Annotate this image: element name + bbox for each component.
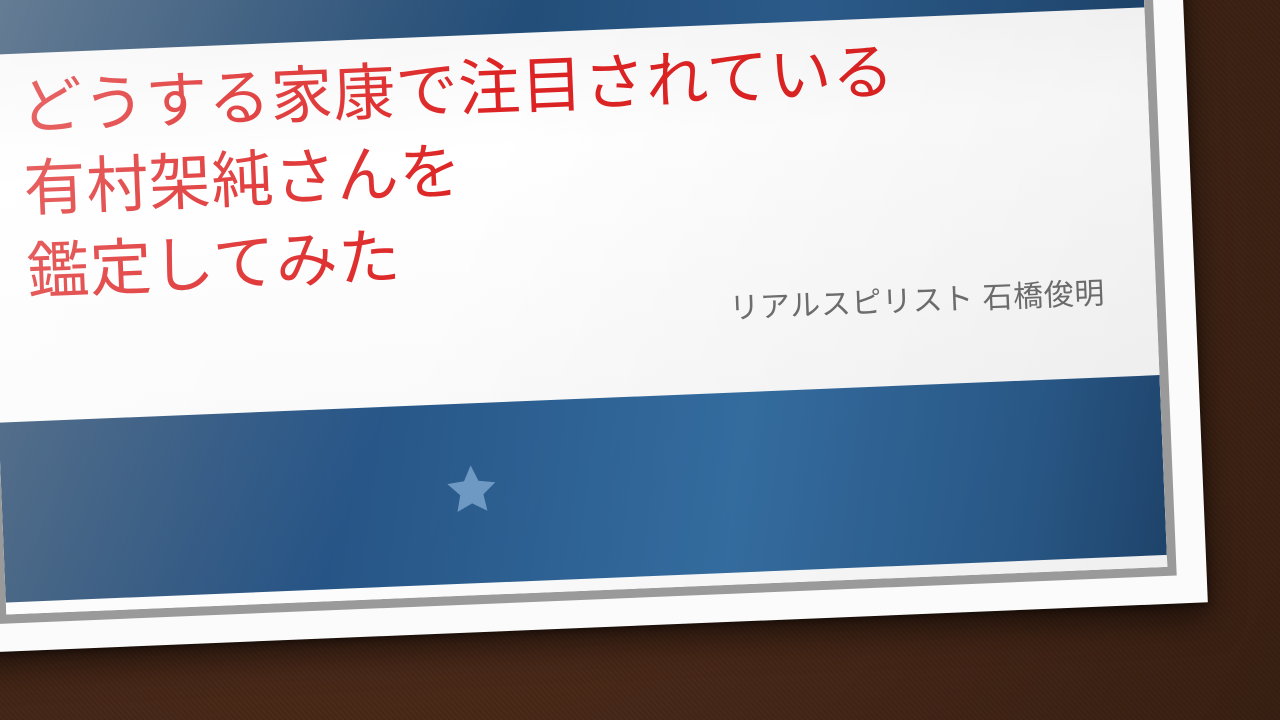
slide-screenshot: どうする家康で注目されている 有村架純さんを 鑑定してみた リアルスピリスト 石… <box>0 0 1280 720</box>
slide-canvas: どうする家康で注目されている 有村架純さんを 鑑定してみた リアルスピリスト 石… <box>0 0 1167 615</box>
slide-inner-border: どうする家康で注目されている 有村架純さんを 鑑定してみた リアルスピリスト 石… <box>0 0 1177 624</box>
slide-title: どうする家康で注目されている 有村架純さんを 鑑定してみた <box>19 24 1074 314</box>
framed-slide: どうする家康で注目されている 有村架純さんを 鑑定してみた リアルスピリスト 石… <box>0 0 1208 653</box>
star-icon <box>444 463 498 515</box>
